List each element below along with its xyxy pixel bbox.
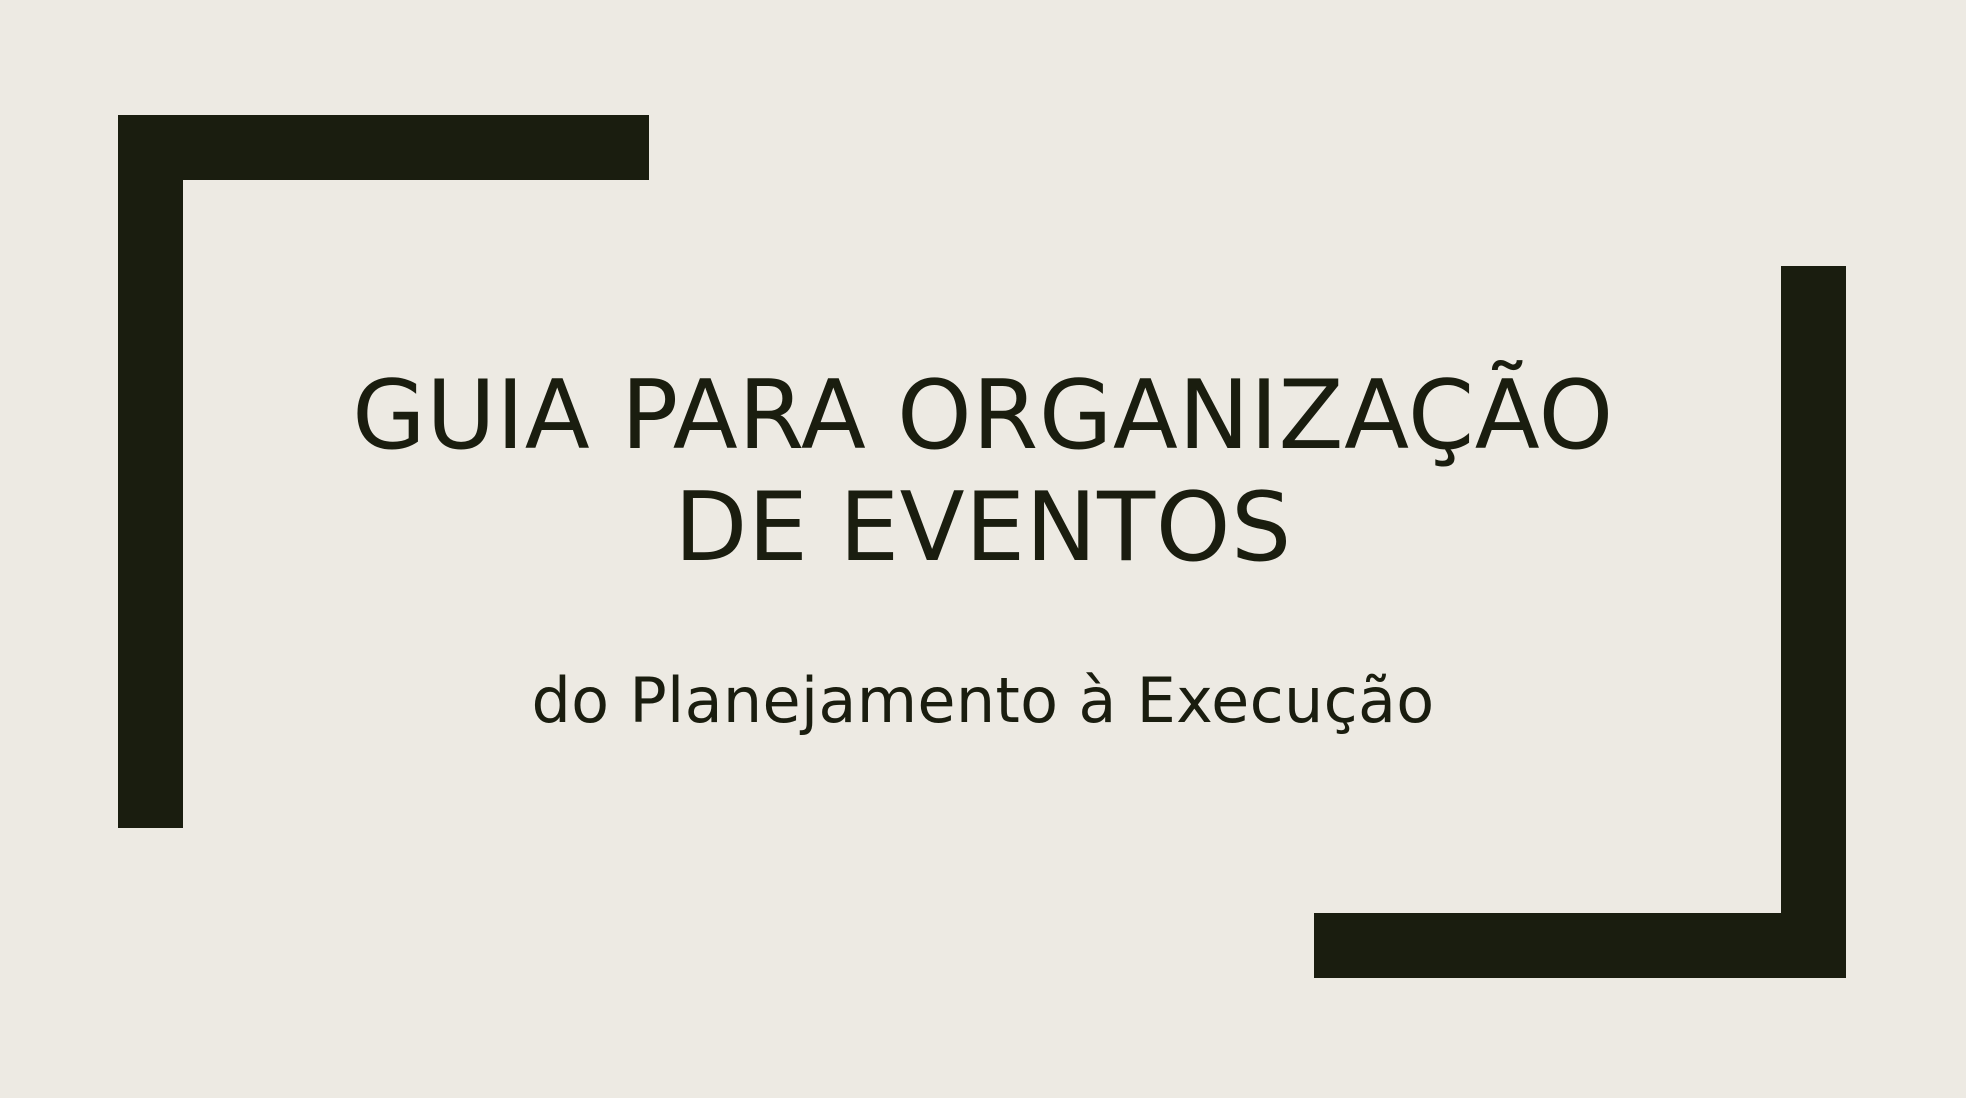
corner-bracket-bottom-right-vertical-bar [1781,266,1846,978]
slide-subtitle: do Planejamento à Execução [243,664,1723,738]
corner-bracket-top-left-vertical-bar [118,115,183,828]
corner-bracket-bottom-right-horizontal-bar [1314,913,1846,978]
corner-bracket-top-left-horizontal-bar [118,115,649,180]
slide-title: GUIA PARA ORGANIZAÇÃO DE EVENTOS [243,360,1723,584]
title-slide: GUIA PARA ORGANIZAÇÃO DE EVENTOS do Plan… [0,0,1966,1098]
